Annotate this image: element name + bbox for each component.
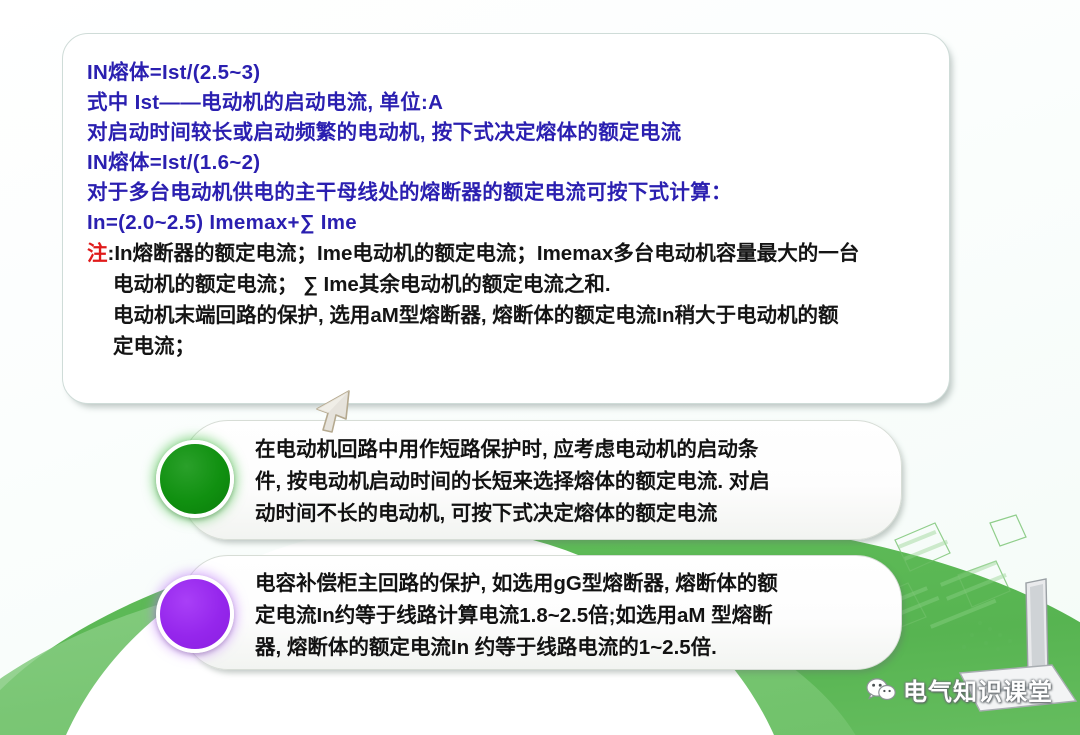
formula-line-5: 对于多台电动机供电的主干母线处的熔断器的额定电流可按下式计算： [87, 178, 927, 208]
callout-2-line-3: 器, 熔断体的额定电流In 约等于线路电流的1~2.5倍. [255, 632, 881, 664]
formula-line-6: In=(2.0~2.5) Imemax+∑ Ime [87, 208, 927, 238]
formula-line-2: 式中 Ist——电动机的启动电流, 单位:A [87, 88, 927, 118]
note-line-3: 电动机末端回路的保护, 选用aM型熔断器, 熔断体的额定电流In稍大于电动机的额 [87, 300, 927, 331]
callout-1-line-2: 件, 按电动机启动时间的长短来选择熔体的额定电流. 对启 [255, 466, 881, 498]
callout-bubble-1: 在电动机回路中用作短路保护时, 应考虑电动机的启动条 件, 按电动机启动时间的长… [182, 420, 902, 540]
formula-line-1: IN熔体=Ist/(2.5~3) [87, 58, 927, 88]
callout-2-bullet-purple [156, 575, 234, 653]
note-marker: 注 [87, 242, 108, 265]
formula-panel: IN熔体=Ist/(2.5~3) 式中 Ist——电动机的启动电流, 单位:A … [62, 33, 950, 404]
note-line-2: 电动机的额定电流； ∑ Ime其余电动机的额定电流之和. [87, 269, 927, 300]
formula-line-4: IN熔体=Ist/(1.6~2) [87, 148, 927, 178]
watermark-text: 电气知识课堂 [903, 672, 1053, 707]
callout-1-bullet-green [156, 440, 234, 518]
wechat-icon [866, 677, 896, 703]
callout-2-line-1: 电容补偿柜主回路的保护, 如选用gG型熔断器, 熔断体的额 [255, 568, 881, 600]
callout-1-line-1: 在电动机回路中用作短路保护时, 应考虑电动机的启动条 [255, 434, 881, 466]
note-line-4: 定电流； [87, 331, 927, 362]
callout-2-line-2: 定电流In约等于线路计算电流1.8~2.5倍;如选用aM 型熔断 [255, 600, 881, 632]
note-line-1: 注:In熔断器的额定电流；Ime电动机的额定电流；Imemax多台电动机容量最大… [87, 238, 927, 269]
callout-bubble-2: 电容补偿柜主回路的保护, 如选用gG型熔断器, 熔断体的额 定电流In约等于线路… [182, 555, 902, 670]
mouse-cursor-icon [305, 386, 357, 438]
formula-line-3: 对启动时间较长或启动频繁的电动机, 按下式决定熔体的额定电流 [87, 118, 927, 148]
watermark: 电气知识课堂 [866, 672, 1053, 707]
note-line-1-text: :In熔断器的额定电流；Ime电动机的额定电流；Imemax多台电动机容量最大的… [108, 242, 860, 265]
slide-canvas: 电气知识课堂 IN熔体=Ist/(2.5~3) 式中 Ist——电动机的启动电流… [0, 0, 1080, 735]
callout-1-line-3: 动时间不长的电动机, 可按下式决定熔体的额定电流 [255, 498, 881, 530]
